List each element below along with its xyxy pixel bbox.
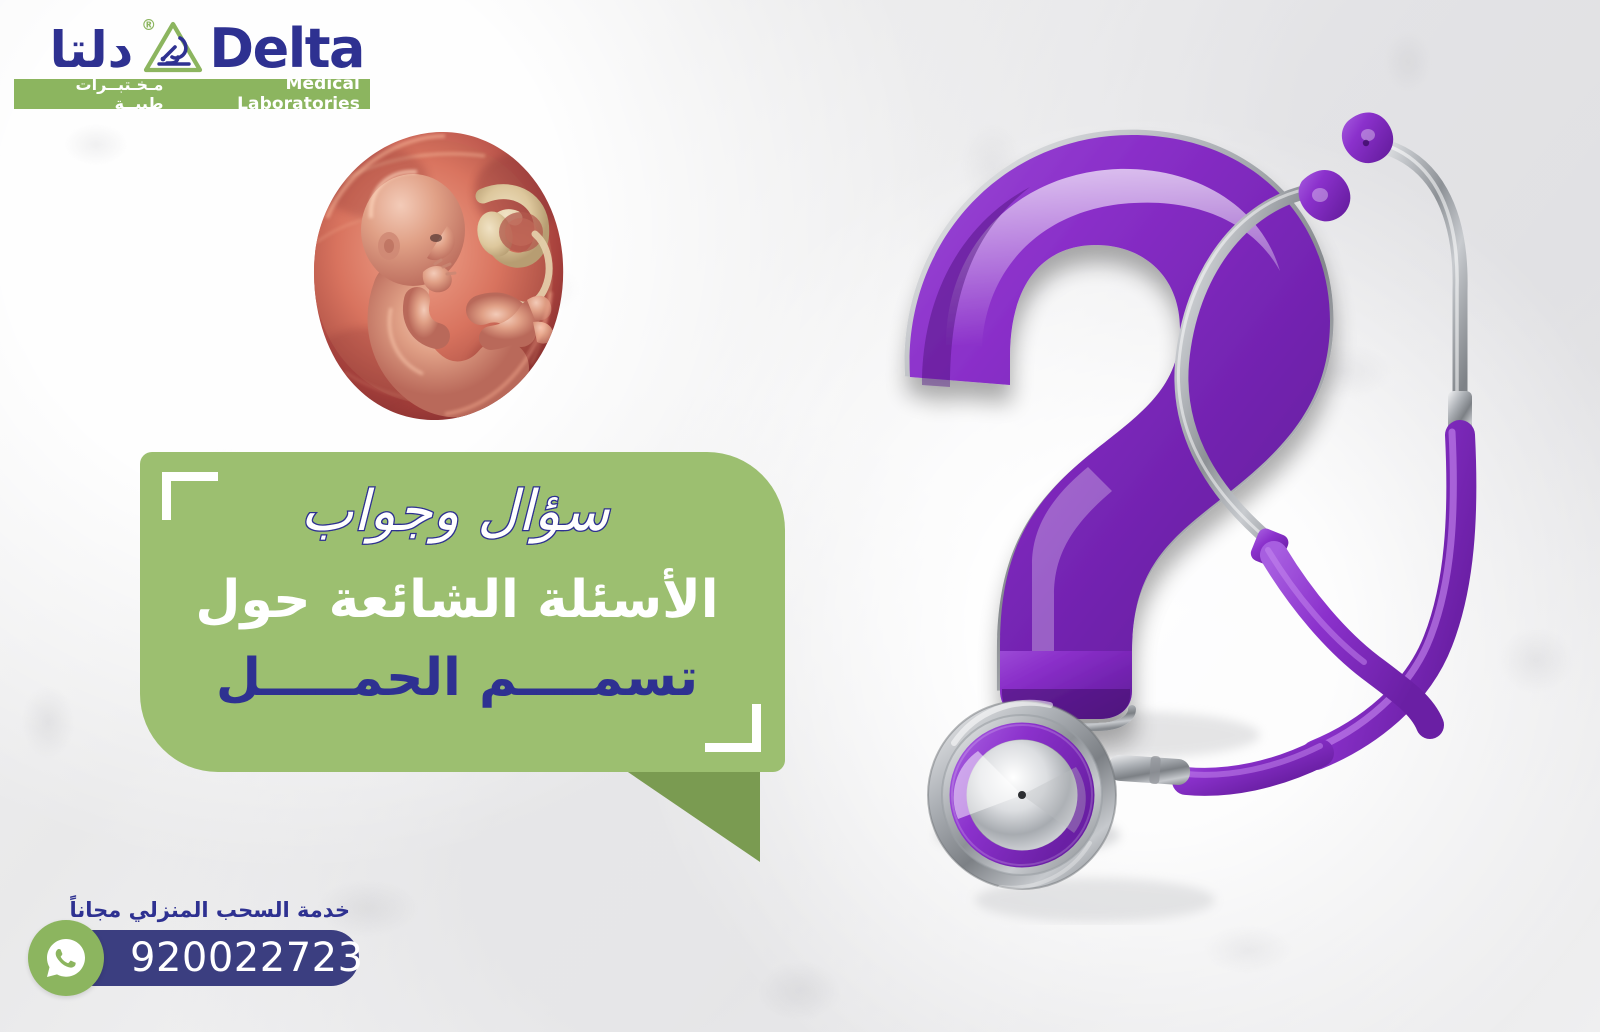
faq-speech-bubble: سؤال وجواب الأسئلة الشائعة حول تسمــــم … xyxy=(140,452,805,872)
phone-number-pill[interactable]: 920022723 xyxy=(66,930,359,986)
phone-number: 920022723 xyxy=(130,937,364,979)
bubble-eyebrow: سؤال وجواب xyxy=(185,480,725,544)
bubble-subject: تسمــــم الحمـــــل xyxy=(157,648,757,708)
logo-tagline-ar: مـخـتبــرات طبيــة xyxy=(26,75,163,113)
logo-tagline-bar: Medical Laboratories مـخـتبــرات طبيــة xyxy=(14,79,370,109)
logo-tagline-en: Medical Laboratories xyxy=(163,74,360,114)
logo-wordmark-row: Delta ® دلتا xyxy=(14,14,370,76)
bubble-headline: الأسئلة الشائعة حول xyxy=(157,570,757,630)
speech-bubble-tail xyxy=(625,770,760,862)
poster-canvas: Delta ® دلتا Medical Laboratories مـخـتب… xyxy=(0,0,1600,1032)
microscope-in-triangle-icon: ® xyxy=(143,18,205,76)
fetus-in-womb-illustration xyxy=(305,122,575,432)
logo-word-ar: دلتا xyxy=(50,24,134,76)
question-mark-stethoscope-artwork xyxy=(850,95,1570,925)
contact-block[interactable]: خدمة السحب المنزلي مجاناً 920022723 xyxy=(26,896,386,1006)
logo-word-en: Delta xyxy=(209,22,364,76)
brand-logo[interactable]: Delta ® دلتا Medical Laboratories مـخـتب… xyxy=(14,14,370,109)
speech-bubble-text: سؤال وجواب الأسئلة الشائعة حول تسمــــم … xyxy=(140,452,785,772)
home-collection-note: خدمة السحب المنزلي مجاناً xyxy=(70,896,350,924)
whatsapp-icon[interactable] xyxy=(28,920,104,996)
